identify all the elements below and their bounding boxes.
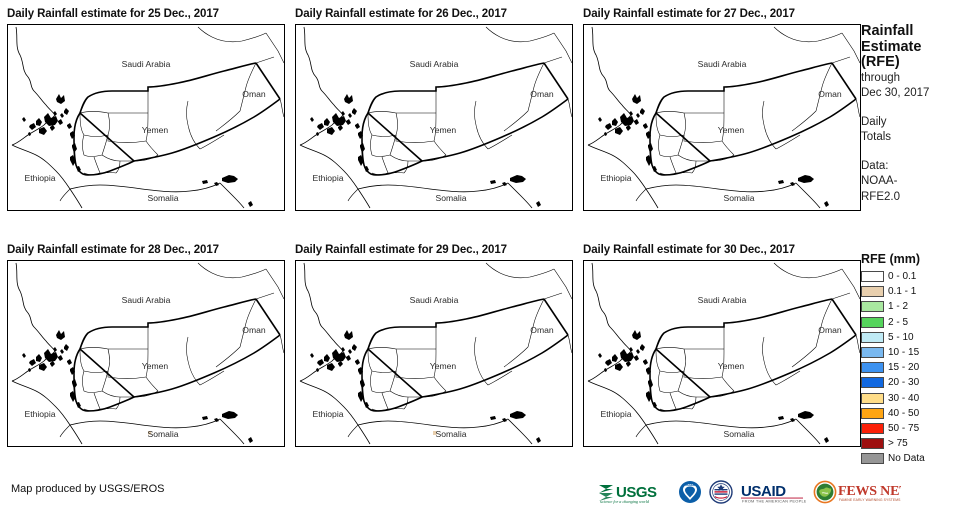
map-label-oman: Oman [530,89,554,99]
map-svg: Saudi Arabia Oman Yemen Ethiopia Somalia [584,261,860,446]
map-label-oman: Oman [242,325,266,335]
legend-row: 2 - 5 [861,315,965,330]
legend-row: 20 - 30 [861,375,965,390]
map-svg: Saudi Arabia Oman Yemen Ethiopia Somalia [8,261,284,446]
map-frame[interactable]: Saudi Arabia Oman Yemen Ethiopia Somalia [295,24,573,211]
legend-row: 1 - 2 [861,299,965,314]
legend-label: 0 - 0.1 [888,271,916,282]
map-credit: Map produced by USGS/EROS [11,483,164,495]
legend-swatch [861,362,884,373]
map-label-saudi-arabia: Saudi Arabia [410,59,459,69]
map-label-somalia: Somalia [723,193,754,203]
map-label-oman: Oman [818,325,842,335]
legend-row: 40 - 50 [861,406,965,421]
map-label-saudi-arabia: Saudi Arabia [122,59,171,69]
svg-text:science for a changing world: science for a changing world [600,499,650,504]
legend-rows: 0 - 0.10.1 - 11 - 22 - 55 - 1010 - 1515 … [861,269,965,466]
legend-label: 5 - 10 [888,332,914,343]
legend: RFE (mm) 0 - 0.10.1 - 11 - 22 - 55 - 101… [861,252,965,466]
map-label-saudi-arabia: Saudi Arabia [698,59,747,69]
header-line-rainfall: Rainfall [861,24,965,40]
map-panel-3: Daily Rainfall estimate for 27 Dec., 201… [583,6,861,211]
panel-title: Daily Rainfall estimate for 28 Dec., 201… [7,242,219,260]
svg-text:FEWS NET: FEWS NET [838,484,901,499]
header-line-rfe20: RFE2.0 [861,190,965,206]
legend-label: No Data [888,453,925,464]
usgs-logo[interactable]: USGS science for a changing world [597,479,671,505]
map-label-oman: Oman [818,89,842,99]
header-line-data: Data: [861,159,965,175]
legend-row: 5 - 10 [861,330,965,345]
map-label-yemen: Yemen [142,361,169,371]
legend-row: 0.1 - 1 [861,284,965,299]
map-label-yemen: Yemen [718,125,745,135]
map-panel-5: Daily Rainfall estimate for 29 Dec., 201… [295,242,573,447]
spacer [861,146,965,159]
map-label-oman: Oman [242,89,266,99]
map-label-ethiopia: Ethiopia [24,409,55,419]
legend-swatch [861,423,884,434]
legend-title: RFE (mm) [861,252,965,266]
svg-text:FROM THE AMERICAN PEOPLE: FROM THE AMERICAN PEOPLE [742,499,806,504]
panel-title: Daily Rainfall estimate for 25 Dec., 201… [7,6,219,24]
map-frame[interactable]: Saudi Arabia Oman Yemen Ethiopia Somalia [7,260,285,447]
map-label-somalia: Somalia [147,193,178,203]
header-line-rfe: (RFE) [861,55,965,71]
header-line-estimate: Estimate [861,40,965,56]
map-label-ethiopia: Ethiopia [312,409,343,419]
legend-swatch [861,438,884,449]
map-label-saudi-arabia: Saudi Arabia [698,295,747,305]
map-header-block: Rainfall Estimate (RFE) through Dec 30, … [861,24,965,205]
map-frame[interactable]: Saudi Arabia Oman Yemen Ethiopia Somalia [7,24,285,211]
map-panel-1: Daily Rainfall estimate for 25 Dec., 201… [7,6,285,211]
svg-text:NOAA: NOAA [685,483,695,487]
header-line-through: through [861,71,965,87]
legend-swatch [861,377,884,388]
panel-title: Daily Rainfall estimate for 30 Dec., 201… [583,242,795,260]
legend-swatch [861,301,884,312]
legend-row: > 75 [861,436,965,451]
legend-swatch [861,317,884,328]
header-line-totals: Totals [861,130,965,146]
map-svg: Saudi Arabia Oman Yemen Ethiopia Somalia [8,25,284,210]
map-label-ethiopia: Ethiopia [312,173,343,183]
fews-net-logo[interactable]: FEWS NET FAMINE EARLY WARNING SYSTEMS NE… [813,479,901,505]
legend-label: 20 - 30 [888,377,919,388]
usaid-seal-logo[interactable] [709,479,733,505]
legend-swatch [861,286,884,297]
map-label-yemen: Yemen [430,361,457,371]
legend-row: 0 - 0.1 [861,269,965,284]
legend-row: 15 - 20 [861,360,965,375]
legend-label: 30 - 40 [888,393,919,404]
map-panel-4: Daily Rainfall estimate for 28 Dec., 201… [7,242,285,447]
legend-row: 10 - 15 [861,345,965,360]
map-panel-6: Daily Rainfall estimate for 30 Dec., 201… [583,242,861,447]
legend-label: 40 - 50 [888,408,919,419]
map-svg: Saudi Arabia Oman Yemen Ethiopia Somalia [296,261,572,446]
header-line-daily: Daily [861,115,965,131]
noaa-logo[interactable]: NOAA [678,479,702,505]
spacer [861,102,965,115]
map-label-saudi-arabia: Saudi Arabia [410,295,459,305]
map-frame[interactable]: Saudi Arabia Oman Yemen Ethiopia Somalia [583,24,861,211]
legend-row: 30 - 40 [861,391,965,406]
map-frame[interactable]: Saudi Arabia Oman Yemen Ethiopia Somalia [295,260,573,447]
map-svg: Saudi Arabia Oman Yemen Ethiopia Somalia [296,25,572,210]
map-label-yemen: Yemen [430,125,457,135]
panel-title: Daily Rainfall estimate for 29 Dec., 201… [295,242,507,260]
map-label-saudi-arabia: Saudi Arabia [122,295,171,305]
map-label-somalia: Somalia [435,429,466,439]
map-label-oman: Oman [530,325,554,335]
legend-label: 0.1 - 1 [888,286,916,297]
legend-label: 15 - 20 [888,362,919,373]
header-line-noaa: NOAA- [861,174,965,190]
map-label-ethiopia: Ethiopia [24,173,55,183]
legend-swatch [861,393,884,404]
map-label-yemen: Yemen [718,361,745,371]
map-label-ethiopia: Ethiopia [600,409,631,419]
map-label-yemen: Yemen [142,125,169,135]
legend-label: 1 - 2 [888,301,908,312]
map-svg: Saudi Arabia Oman Yemen Ethiopia Somalia [584,25,860,210]
legend-swatch [861,332,884,343]
map-panel-2: Daily Rainfall estimate for 26 Dec., 201… [295,6,573,211]
legend-label: 50 - 75 [888,423,919,434]
svg-text:USAID: USAID [741,483,786,500]
map-label-somalia: Somalia [147,429,178,439]
legend-row: 50 - 75 [861,421,965,436]
panel-title: Daily Rainfall estimate for 26 Dec., 201… [295,6,507,24]
usaid-logo[interactable]: USAID FROM THE AMERICAN PEOPLE [740,479,806,505]
panel-title: Daily Rainfall estimate for 27 Dec., 201… [583,6,795,24]
legend-swatch [861,453,884,464]
legend-label: 2 - 5 [888,317,908,328]
svg-text:FAMINE EARLY WARNING SYSTEMS N: FAMINE EARLY WARNING SYSTEMS NETWORK [839,498,901,502]
map-label-somalia: Somalia [435,193,466,203]
legend-label: > 75 [888,438,908,449]
legend-label: 10 - 15 [888,347,919,358]
map-label-somalia: Somalia [723,429,754,439]
legend-swatch [861,408,884,419]
legend-swatch [861,271,884,282]
map-label-ethiopia: Ethiopia [600,173,631,183]
logo-strip: USGS science for a changing world NOAA U… [597,478,901,506]
legend-row: No Data [861,451,965,466]
legend-swatch [861,347,884,358]
header-line-date: Dec 30, 2017 [861,86,965,102]
map-frame[interactable]: Saudi Arabia Oman Yemen Ethiopia Somalia [583,260,861,447]
